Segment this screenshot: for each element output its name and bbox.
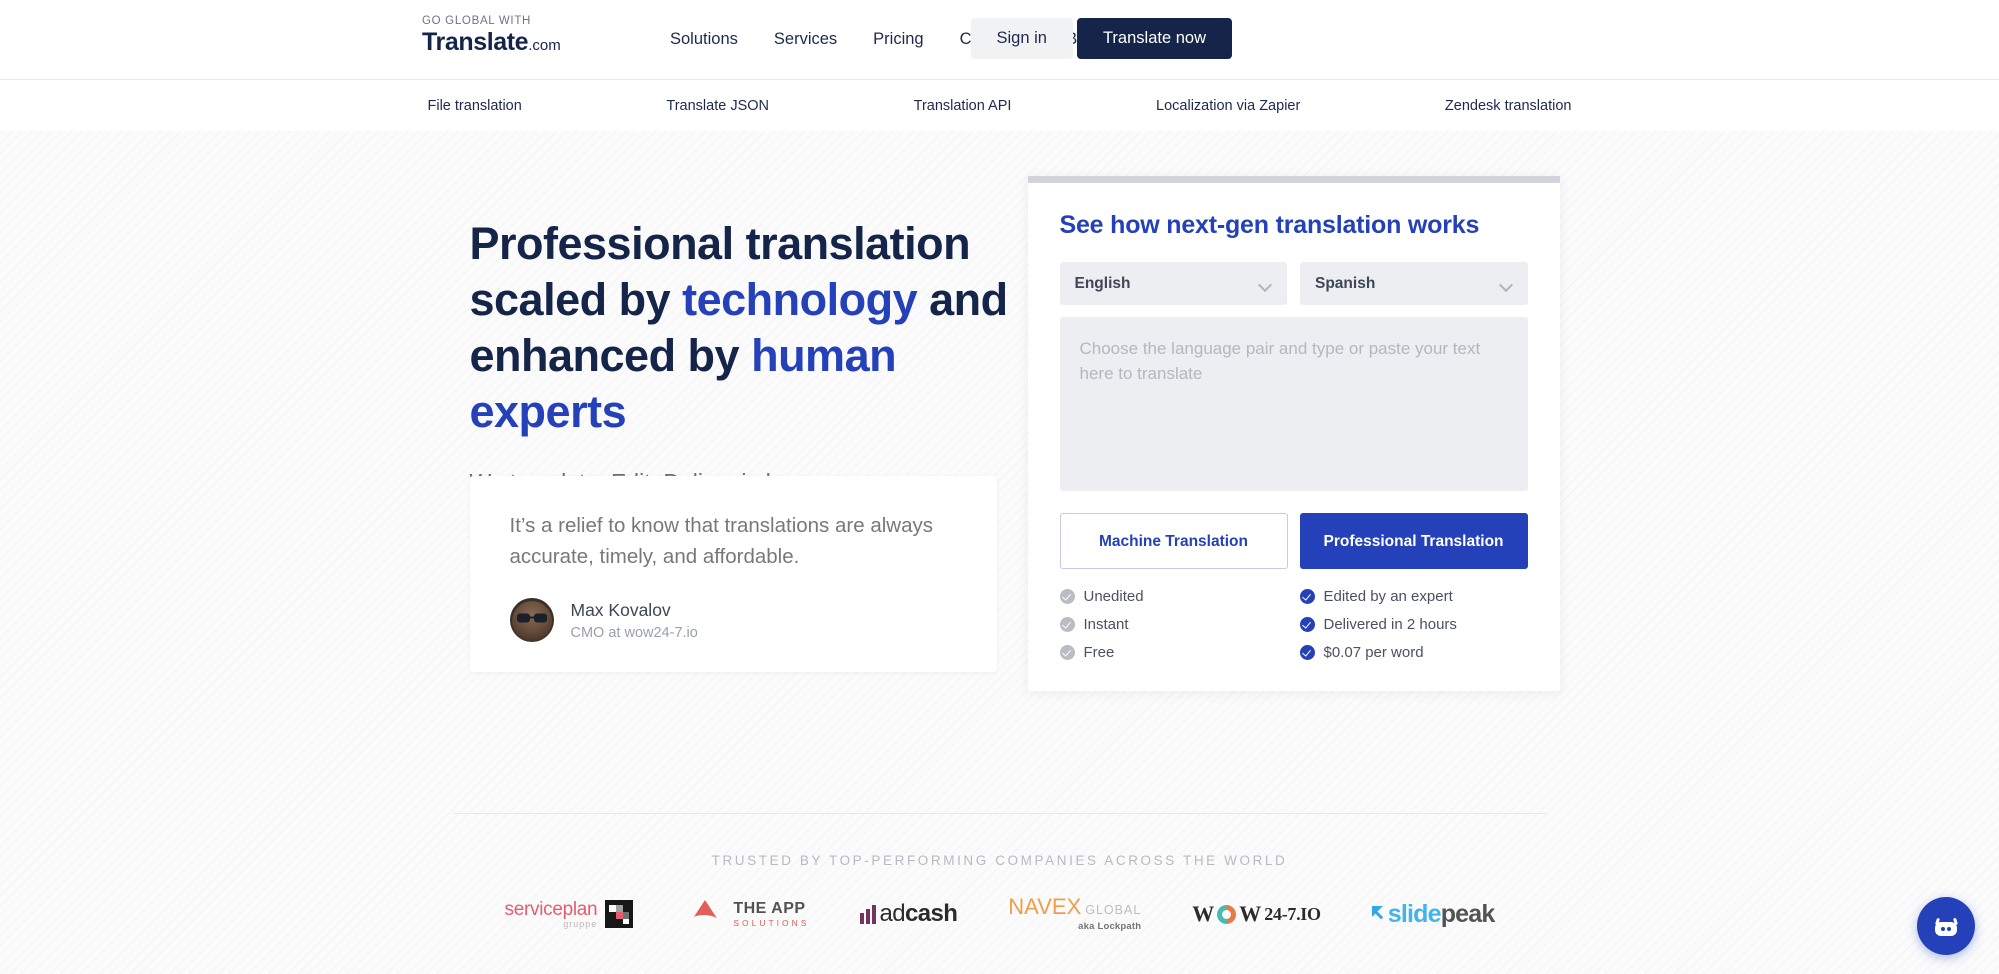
machine-feature-list: Unedited Instant Free: [1060, 588, 1288, 661]
chat-widget-button[interactable]: [1917, 897, 1975, 955]
language-pair-row: English Spanish: [1060, 262, 1528, 305]
feature-label: $0.07 per word: [1324, 644, 1424, 661]
logo-the-app-solutions: THE APP SOLUTIONS: [684, 899, 809, 929]
check-circle-icon: [1060, 589, 1075, 604]
slidepeak-part2: peak: [1441, 900, 1495, 928]
serviceplan-mark-icon: [605, 900, 633, 928]
avatar: [510, 598, 554, 642]
subnav-item-localization-via-zapier[interactable]: Localization via Zapier: [1156, 98, 1300, 114]
source-language-select[interactable]: English: [1060, 262, 1288, 305]
list-item: Unedited: [1060, 588, 1288, 605]
subnav-item-translation-api[interactable]: Translation API: [914, 98, 1012, 114]
translation-input[interactable]: [1060, 317, 1528, 491]
feature-comparison: Unedited Instant Free Edited by an exper…: [1060, 588, 1528, 661]
target-language-value: Spanish: [1315, 275, 1375, 293]
logo-slidepeak: slidepeak: [1372, 902, 1495, 927]
nav-item-solutions[interactable]: Solutions: [670, 30, 738, 49]
feature-label: Edited by an expert: [1324, 588, 1453, 605]
sign-in-button[interactable]: Sign in: [971, 18, 1073, 59]
divider: [454, 813, 1546, 814]
trusted-by-label: TRUSTED BY TOP-PERFORMING COMPANIES ACRO…: [0, 853, 1999, 868]
serviceplan-wordmark: serviceplan: [505, 900, 598, 919]
list-item: Edited by an expert: [1300, 588, 1528, 605]
list-item: $0.07 per word: [1300, 644, 1528, 661]
chevron-down-icon: [1259, 280, 1272, 288]
feature-label: Instant: [1084, 616, 1129, 633]
wow-circular-arrow-icon: [1217, 905, 1236, 924]
feature-label: Unedited: [1084, 588, 1144, 605]
navex-global-text: GLOBAL: [1085, 904, 1141, 917]
testimonial-author-name: Max Kovalov: [571, 599, 698, 623]
list-item: Free: [1060, 644, 1288, 661]
headline-accent-technology: technology: [682, 274, 917, 325]
logo-adcash: adcash: [860, 902, 957, 926]
adcash-bars-icon: [860, 905, 876, 924]
wow-letter-2: W: [1239, 903, 1261, 925]
subnav-item-zendesk-translation[interactable]: Zendesk translation: [1445, 98, 1572, 114]
navex-wordmark: NAVEX: [1008, 896, 1081, 918]
chevron-down-icon: [1500, 280, 1513, 288]
page-title: Professional translation scaled by techn…: [470, 216, 1010, 440]
check-circle-icon: [1300, 617, 1315, 632]
translation-mode-row: Machine Translation Professional Transla…: [1060, 513, 1528, 569]
slidepeak-part1: slide: [1388, 900, 1441, 928]
list-item: Delivered in 2 hours: [1300, 616, 1528, 633]
subnav-item-file-translation[interactable]: File translation: [428, 98, 522, 114]
hero-section: Professional translation scaled by techn…: [0, 131, 1999, 974]
nav-item-pricing[interactable]: Pricing: [873, 30, 923, 49]
navex-tagline: aka Lockpath: [1078, 921, 1141, 932]
chat-bot-icon: [1933, 917, 1959, 936]
logo-tld: .com: [528, 37, 561, 54]
header-actions: Sign in Translate now: [971, 18, 1232, 59]
translation-widget: See how next-gen translation works Engli…: [1028, 176, 1560, 691]
logo-serviceplan: serviceplan gruppe: [505, 900, 634, 929]
client-logos-row: serviceplan gruppe THE APP SOLUTIONS adc…: [470, 896, 1530, 932]
site-logo[interactable]: GO GLOBAL WITH Translate.com: [422, 16, 561, 55]
machine-translation-button[interactable]: Machine Translation: [1060, 513, 1288, 569]
logo-navex-global: NAVEX GLOBAL aka Lockpath: [1008, 896, 1141, 932]
widget-title: See how next-gen translation works: [1060, 211, 1528, 240]
triangle-mark-icon: [684, 899, 724, 929]
secondary-navigation: File translation Translate JSON Translat…: [0, 79, 1999, 131]
adcash-part2: cash: [905, 900, 957, 927]
testimonial-author-role: CMO at wow24-7.io: [571, 625, 698, 641]
site-header: GO GLOBAL WITH Translate.com Solutions S…: [0, 0, 1999, 79]
hero-left-column: Professional translation scaled by techn…: [470, 216, 1010, 496]
translate-now-button[interactable]: Translate now: [1077, 18, 1232, 59]
professional-translation-button[interactable]: Professional Translation: [1300, 513, 1528, 569]
target-language-select[interactable]: Spanish: [1300, 262, 1528, 305]
testimonial-card: It’s a relief to know that translations …: [470, 476, 997, 672]
check-circle-icon: [1060, 617, 1075, 632]
professional-feature-list: Edited by an expert Delivered in 2 hours…: [1300, 588, 1528, 661]
logo-wow24-7: W W 24-7.IO: [1192, 903, 1320, 925]
feature-label: Free: [1084, 644, 1115, 661]
adcash-part1: ad: [879, 900, 905, 927]
testimonial-quote: It’s a relief to know that translations …: [510, 510, 957, 572]
arrow-up-left-icon: [1372, 906, 1387, 921]
the-app-solutions-line1: THE APP: [733, 901, 809, 917]
nav-item-services[interactable]: Services: [774, 30, 837, 49]
subnav-item-translate-json[interactable]: Translate JSON: [666, 98, 769, 114]
list-item: Instant: [1060, 616, 1288, 633]
the-app-solutions-line2: SOLUTIONS: [733, 919, 809, 928]
logo-wordmark-text: Translate: [422, 28, 528, 56]
wow-letter-1: W: [1192, 903, 1214, 925]
wow-number: 24-7.IO: [1264, 905, 1320, 923]
logo-tagline: GO GLOBAL WITH: [422, 16, 561, 28]
serviceplan-subtext: gruppe: [505, 920, 598, 929]
logo-wordmark: Translate.com: [422, 30, 561, 55]
check-circle-icon: [1300, 645, 1315, 660]
check-circle-icon: [1060, 645, 1075, 660]
check-circle-icon: [1300, 589, 1315, 604]
source-language-value: English: [1075, 275, 1131, 293]
testimonial-author: Max Kovalov CMO at wow24-7.io: [510, 598, 957, 642]
feature-label: Delivered in 2 hours: [1324, 616, 1457, 633]
